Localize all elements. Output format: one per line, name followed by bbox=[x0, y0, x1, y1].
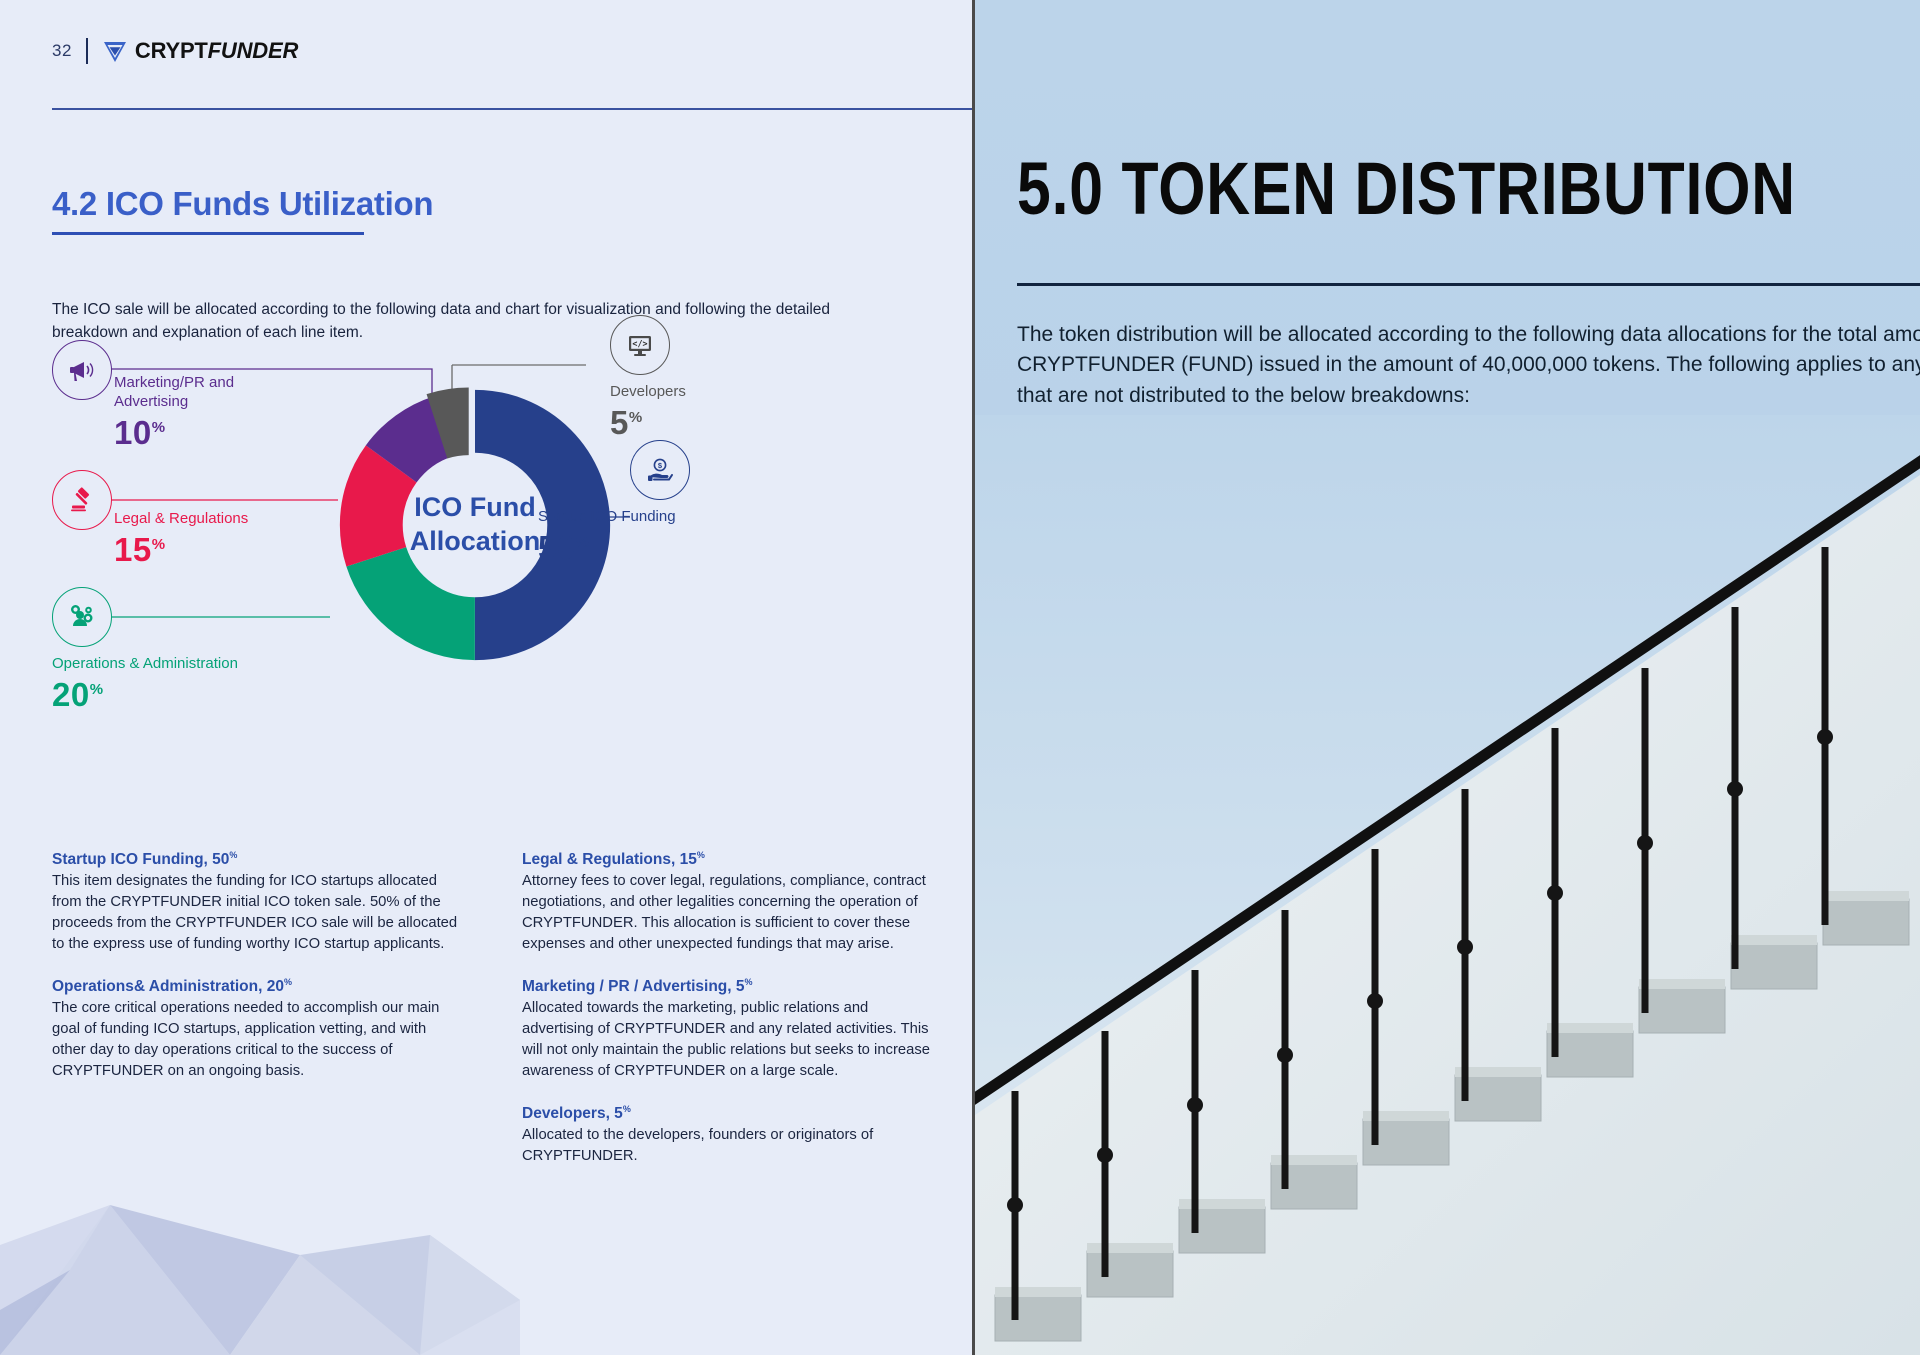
callout-operations[interactable]: Operations & Administration 20% bbox=[52, 587, 312, 714]
breakdown-item: Operations& Administration, 20% The core… bbox=[52, 977, 462, 1082]
breakdown-body: Allocated towards the marketing, public … bbox=[522, 998, 932, 1082]
callout-percent: 50% bbox=[538, 529, 758, 567]
breakdown-heading: Legal & Regulations, 15% bbox=[522, 850, 932, 869]
code-monitor-icon: </> bbox=[610, 315, 670, 375]
breakdown-body: Allocated to the developers, founders or… bbox=[522, 1125, 932, 1167]
svg-text:</>: </> bbox=[632, 338, 647, 348]
brand-logo: CRYPTFUNDER bbox=[102, 38, 298, 64]
right-page-rule bbox=[1017, 283, 1920, 286]
left-page: 32 CRYPTFUNDER 4.2 ICO Funds Utilization… bbox=[0, 0, 972, 1355]
header-divider bbox=[86, 38, 88, 64]
breakdown-heading: Operations& Administration, 20% bbox=[52, 977, 462, 996]
gavel-icon bbox=[52, 470, 112, 530]
breakdown-heading: Marketing / PR / Advertising, 5% bbox=[522, 977, 932, 996]
breakdown-heading: Developers, 5% bbox=[522, 1104, 932, 1123]
title-underline bbox=[52, 232, 364, 235]
callout-legal[interactable]: Legal & Regulations 15% bbox=[52, 470, 324, 569]
page-header: 32 CRYPTFUNDER bbox=[52, 38, 298, 64]
breakdown-body: This item designates the funding for ICO… bbox=[52, 871, 462, 955]
right-page-title: 5.0 TOKEN DISTRIBUTION bbox=[1017, 155, 1755, 223]
operations-people-gear-icon bbox=[52, 587, 112, 647]
breakdown-column-left: Startup ICO Funding, 50% This item desig… bbox=[52, 850, 462, 1189]
breakdown-heading: Startup ICO Funding, 50% bbox=[52, 850, 462, 869]
callout-label: Marketing/PR and Advertising bbox=[114, 374, 299, 412]
breakdown-item: Developers, 5% Allocated to the develope… bbox=[522, 1104, 932, 1167]
breakdown-column-right: Legal & Regulations, 15% Attorney fees t… bbox=[522, 850, 932, 1189]
hand-coin-icon: $ bbox=[630, 440, 690, 500]
right-page: 5.0 TOKEN DISTRIBUTION The token distrib… bbox=[972, 0, 1920, 1355]
callout-label: Startup ICO Funding bbox=[538, 508, 758, 527]
callout-percent: 10% bbox=[114, 414, 299, 452]
breakdown-item: Legal & Regulations, 15% Attorney fees t… bbox=[522, 850, 932, 955]
breakdown-columns: Startup ICO Funding, 50% This item desig… bbox=[52, 850, 932, 1189]
page-title: 4.2 ICO Funds Utilization bbox=[52, 185, 433, 223]
page-number: 32 bbox=[52, 41, 72, 61]
callout-percent: 15% bbox=[114, 531, 324, 569]
staircase-photo bbox=[975, 415, 1920, 1355]
brand-name: CRYPTFUNDER bbox=[135, 38, 298, 64]
document-spread: 32 CRYPTFUNDER 4.2 ICO Funds Utilization… bbox=[0, 0, 1920, 1355]
header-rule bbox=[52, 108, 972, 110]
callout-developers[interactable]: </> Developers 5% bbox=[610, 315, 790, 442]
breakdown-item: Startup ICO Funding, 50% This item desig… bbox=[52, 850, 462, 955]
megaphone-icon bbox=[52, 340, 112, 400]
svg-text:$: $ bbox=[658, 461, 663, 470]
breakdown-body: Attorney fees to cover legal, regulation… bbox=[522, 871, 932, 955]
callout-percent: 20% bbox=[52, 676, 312, 714]
callout-marketing[interactable]: Marketing/PR and Advertising 10% bbox=[52, 340, 299, 452]
triangle-logo-icon bbox=[102, 38, 128, 64]
callout-startup-funding[interactable]: $ Startup ICO Funding 50% bbox=[630, 440, 758, 567]
callout-label: Developers bbox=[610, 383, 790, 402]
callout-percent: 5% bbox=[610, 404, 790, 442]
right-page-body: The token distribution will be allocated… bbox=[1017, 320, 1920, 411]
breakdown-body: The core critical operations needed to a… bbox=[52, 998, 462, 1082]
callout-label: Operations & Administration bbox=[52, 655, 312, 674]
ico-fund-allocation-chart: ICO Fund Allocation Marketing/PR and Adv… bbox=[0, 355, 972, 825]
breakdown-item: Marketing / PR / Advertising, 5% Allocat… bbox=[522, 977, 932, 1082]
callout-label: Legal & Regulations bbox=[114, 510, 324, 529]
